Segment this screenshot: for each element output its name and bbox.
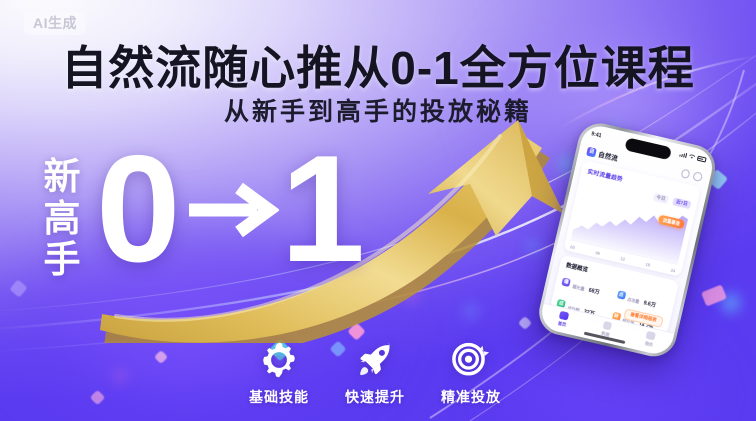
app-header-actions [680, 169, 703, 182]
feature-row: 基础技能 快速提升 精准投放 [236, 340, 514, 407]
zero-to-one-to: 1 [281, 146, 366, 274]
tab-label: 首页 [557, 320, 566, 328]
decor-orb-pink-3 [112, 368, 128, 384]
stat-label: 曝光量 [572, 284, 585, 292]
stat-icon-glyph: 点 [618, 292, 624, 299]
signal-bars-icon [680, 152, 687, 158]
chart-x-tick: 06 [595, 250, 601, 256]
stat-value: 68万 [588, 288, 600, 296]
vertical-label-char-2: 高 [44, 200, 81, 238]
decor-orb-pink-2 [402, 286, 420, 304]
promo-banner: AI生成 自然流随心推从0-1全方位课程 从新手到高手的投放秘籍 [0, 0, 756, 421]
feature-label: 基础技能 [249, 387, 309, 407]
feature-label: 快速提升 [345, 387, 405, 407]
rocket-icon [355, 340, 395, 380]
app-logo-icon: 自 [586, 147, 597, 158]
decor-orb-blue [460, 300, 482, 322]
feature-basic-skills[interactable]: 基础技能 [236, 340, 322, 407]
target-icon [451, 340, 491, 380]
feature-label: 精准投放 [441, 387, 501, 407]
stat-label: 点击量 [627, 297, 640, 305]
wifi-icon [688, 154, 696, 160]
battery-icon [697, 156, 707, 163]
vertical-label-new-to-expert: 新 高 手 [34, 158, 90, 279]
phone-screen: 9:41 自 自然流 [538, 123, 715, 357]
decor-orb-white [238, 316, 252, 330]
feature-fast-growth[interactable]: 快速提升 [332, 340, 418, 407]
app-brand: 自 自然流 [586, 147, 619, 163]
phone-frame: 9:41 自 自然流 [535, 119, 720, 361]
purple-square-icon: 曝 [561, 278, 571, 288]
vertical-label-char-3: 手 [44, 241, 81, 279]
gear-icon [259, 340, 299, 380]
tab-label: 我的 [644, 340, 653, 348]
zero-to-one-from: 0 [96, 146, 181, 274]
status-bar-indicators [680, 152, 707, 163]
page-subtitle: 从新手到高手的投放秘籍 [0, 92, 756, 128]
right-arrow-icon [183, 180, 279, 240]
blue-square-icon: 点 [616, 290, 626, 300]
chart-x-tick: 00 [570, 244, 576, 250]
bell-icon[interactable] [680, 169, 690, 179]
chart-icon [602, 321, 612, 331]
status-bar-time: 9:41 [591, 131, 602, 139]
home-icon [559, 311, 569, 321]
chart-x-tick: 18 [645, 261, 651, 267]
message-icon[interactable] [693, 172, 703, 182]
app-logo-glyph: 自 [589, 149, 595, 155]
vertical-label-char-1: 新 [44, 158, 81, 196]
stat-value: 9.6万 [643, 300, 656, 309]
tab-profile[interactable]: 我的 [626, 327, 673, 352]
chart-x-tick: 24 [670, 267, 676, 273]
app-brand-name: 自然流 [598, 150, 619, 163]
feature-precise-targeting[interactable]: 精准投放 [428, 340, 514, 407]
page-title: 自然流随心推从0-1全方位课程 [0, 32, 756, 98]
chart-x-tick: 12 [620, 256, 626, 262]
user-icon [646, 331, 656, 341]
zero-to-one-graphic: 0 1 [96, 146, 365, 274]
tab-home[interactable]: 首页 [540, 307, 587, 332]
stat-icon-glyph: 曝 [563, 279, 569, 286]
